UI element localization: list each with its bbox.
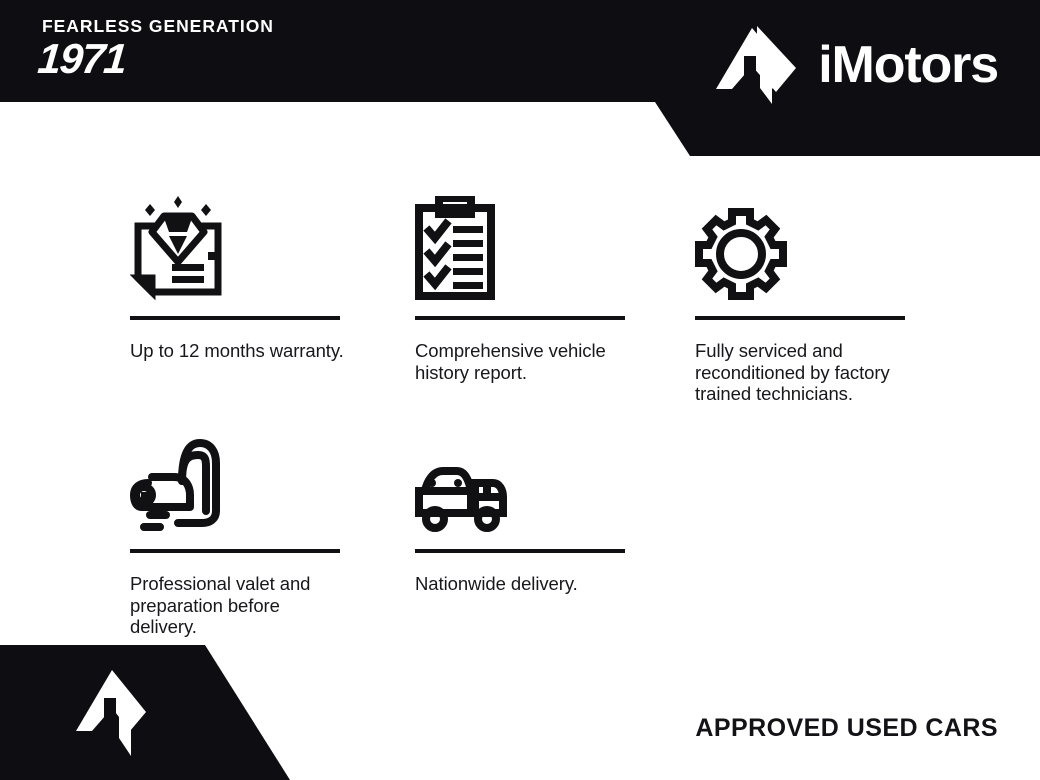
- feature-label: Professional valet and preparation befor…: [130, 573, 345, 638]
- car-transporter-truck-icon: [415, 429, 695, 537]
- certificate-diamond-icon: [130, 186, 415, 304]
- clipboard-checklist-icon: [415, 186, 695, 304]
- feature-divider: [695, 316, 905, 320]
- feature-label: Comprehensive vehicle history report.: [415, 340, 630, 383]
- feature-label: Up to 12 months warranty.: [130, 340, 345, 362]
- features-row-2: Professional valet and preparation befor…: [130, 429, 920, 638]
- promo-page: FEARLESS GENERATION 1971 iMotors: [0, 0, 1040, 780]
- feature-item: Professional valet and preparation befor…: [130, 429, 415, 638]
- features-row-1: Up to 12 months warranty.: [130, 186, 920, 405]
- feature-placeholder: [695, 429, 920, 638]
- brand-lockup: iMotors: [710, 26, 998, 104]
- feature-item: Nationwide delivery.: [415, 429, 695, 638]
- gear-icon: [695, 186, 920, 304]
- brand-name: iMotors: [818, 39, 998, 91]
- header-branding-block: FEARLESS GENERATION 1971: [42, 17, 274, 80]
- feature-divider: [415, 549, 625, 553]
- feature-label: Fully serviced and reconditioned by fact…: [695, 340, 910, 405]
- header-year-wrap: 1971: [38, 38, 274, 80]
- imotors-chevron-logo-icon: [710, 26, 796, 104]
- feature-divider: [415, 316, 625, 320]
- feature-divider: [130, 316, 340, 320]
- feature-item: Comprehensive vehicle history report.: [415, 186, 695, 405]
- page-header: FEARLESS GENERATION 1971 iMotors: [0, 0, 1040, 156]
- vacuum-cleaner-icon: [130, 429, 415, 537]
- footer-tagline: APPROVED USED CARS: [695, 714, 998, 743]
- feature-divider: [130, 549, 340, 553]
- feature-label: Nationwide delivery.: [415, 573, 630, 595]
- feature-item: Up to 12 months warranty.: [130, 186, 415, 405]
- feature-item: Fully serviced and reconditioned by fact…: [695, 186, 920, 405]
- imotors-chevron-logo-icon: [72, 668, 152, 756]
- features-grid: Up to 12 months warranty.: [130, 186, 920, 638]
- header-year: 1971: [36, 38, 276, 80]
- header-tagline: FEARLESS GENERATION: [42, 17, 274, 36]
